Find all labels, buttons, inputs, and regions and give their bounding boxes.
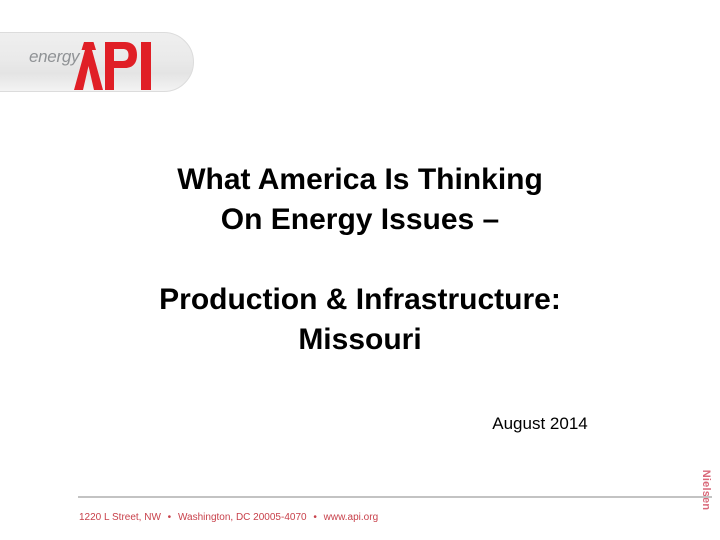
slide-title-block: What America Is Thinking On Energy Issue… <box>60 160 660 360</box>
footer-divider <box>78 496 712 498</box>
footer-separator-1: • <box>164 512 176 523</box>
nielsen-vertical-credit: Nielsen <box>698 460 714 520</box>
api-logo-icon <box>72 36 162 90</box>
title-spacer <box>60 240 660 280</box>
footer-city-state-zip: Washington, DC 20005-4070 <box>178 512 307 523</box>
title-line-2: On Energy Issues – <box>60 200 660 240</box>
footer-address: 1220 L Street, NW <box>79 512 161 523</box>
footer-website[interactable]: www.api.org <box>324 512 378 523</box>
title-line-1: What America Is Thinking <box>60 160 660 200</box>
slide-date: August 2014 <box>440 414 640 434</box>
nielsen-label: Nielsen <box>700 470 712 511</box>
title-line-3: Production & Infrastructure: <box>60 280 660 320</box>
presentation-slide: energy What America Is Thinking On Energ… <box>0 0 720 540</box>
footer-contact-line: 1220 L Street, NW • Washington, DC 20005… <box>79 512 378 523</box>
title-line-4: Missouri <box>60 320 660 360</box>
footer-separator-2: • <box>309 512 321 523</box>
